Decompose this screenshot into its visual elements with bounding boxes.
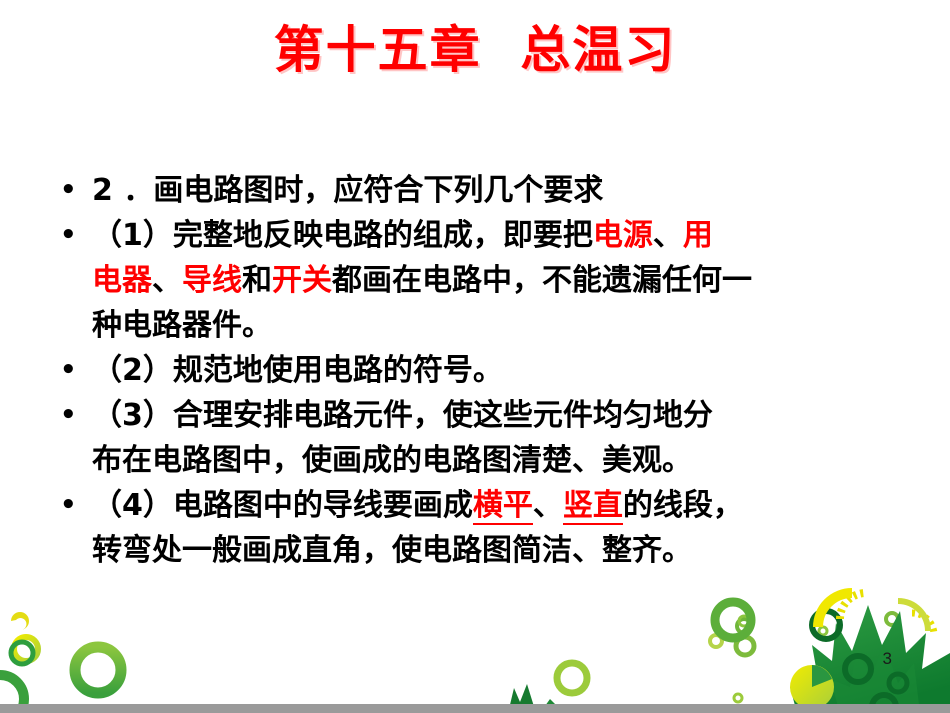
bullet-item: •（1）完整地反映电路的组成，即要把电源、用电器、导线和开关都画在电路中，不能遗… [52, 213, 912, 348]
text-run: （4）电路图中的导线要画成 [92, 488, 473, 523]
bullet-marker: • [60, 213, 77, 258]
leaf-hole-a [845, 656, 871, 682]
dotted-arc-b [818, 593, 852, 627]
text-run: 2 ．画电路图时，应符合下列几个要求 [92, 173, 603, 208]
bullet-item: •2 ．画电路图时，应符合下列几个要求 [52, 168, 912, 213]
bullet-item: •（4）电路图中的导线要画成横平、竖直的线段，转弯处一般画成直角，使电路图简洁、… [52, 483, 912, 573]
highlight-run: 用 [683, 218, 713, 253]
crescent-shape [11, 612, 29, 630]
text-run: （1）完整地反映电路的组成，即要把 [92, 218, 593, 253]
dotted-arc-d [898, 601, 928, 631]
highlight-run: 竖直 [563, 488, 623, 525]
decoration-svg [0, 583, 950, 713]
bullet-marker: • [60, 393, 77, 438]
bullet-item: •（2）规范地使用电路的符号。 [52, 348, 912, 393]
bullet-line: （3）合理安排电路元件，使这些元件均匀地分 [92, 393, 912, 438]
page-number: 3 [883, 649, 892, 669]
text-run: （3）合理安排电路元件，使这些元件均匀地分 [92, 398, 713, 433]
text-run: 的线段， [623, 488, 743, 523]
text-run: 、 [152, 263, 182, 298]
leaf-hole-b [889, 674, 907, 692]
bullet-line: 布在电路图中，使画成的电路图清楚、美观。 [92, 438, 912, 483]
text-run: 转弯处一般画成直角，使电路图简洁、整齐。 [92, 533, 692, 568]
yellow-blob [790, 665, 834, 709]
ring-mid [557, 663, 587, 693]
highlight-run: 开关 [272, 263, 332, 298]
maple-leaf-inner [830, 643, 920, 713]
bullet-line: 种电路器件。 [92, 303, 912, 348]
bottom-decoration: 3 [0, 583, 950, 713]
text-run: 布在电路图中，使画成的电路图清楚、美观。 [92, 443, 692, 478]
leaf-hole-c [872, 695, 896, 713]
highlight-run: 导线 [182, 263, 242, 298]
bullet-marker: • [60, 483, 77, 528]
highlight-run: 横平 [473, 488, 533, 525]
ring-tiny-a [710, 635, 722, 647]
text-run: 种电路器件。 [92, 308, 272, 343]
bullet-marker: • [60, 348, 77, 393]
bullet-line: （4）电路图中的导线要画成横平、竖直的线段， [92, 483, 912, 528]
bullet-line: 电器、导线和开关都画在电路中，不能遗漏任何一 [92, 258, 912, 303]
bullet-line: 2 ．画电路图时，应符合下列几个要求 [92, 168, 912, 213]
bottom-bar [0, 704, 950, 713]
ring-small-a [14, 637, 38, 661]
ring-tiny-b [736, 637, 754, 655]
ring-tiny-d [739, 616, 749, 626]
leaf-spike-small [508, 684, 536, 713]
maple-leaf-shape [790, 605, 950, 713]
slide-canvas: 第十五章 总温习 •2 ．画电路图时，应符合下列几个要求•（1）完整地反映电路的… [0, 0, 950, 713]
highlight-run: 电器 [92, 263, 152, 298]
ring-tiny-e [734, 694, 742, 702]
text-run: 都画在电路中，不能遗漏任何一 [332, 263, 752, 298]
ring-tiny-c [737, 619, 751, 633]
bullet-line: 转弯处一般画成直角，使电路图简洁、整齐。 [92, 528, 912, 573]
bullet-line: （1）完整地反映电路的组成，即要把电源、用 [92, 213, 912, 258]
bullet-item: •（3）合理安排电路元件，使这些元件均匀地分布在电路图中，使画成的电路图清楚、美… [52, 393, 912, 483]
ring-tiny-g [886, 613, 898, 625]
text-run: 、 [653, 218, 683, 253]
bullet-marker: • [60, 168, 77, 213]
dotted-arc-a [840, 593, 866, 619]
ring-small-b [11, 642, 33, 664]
leaf-spike-tiny [540, 699, 564, 713]
ring-tiny-f [819, 627, 827, 635]
ring-medium-left [75, 647, 121, 693]
text-run: （2）规范地使用电路的符号。 [92, 353, 503, 388]
leaf-hole-d [812, 611, 840, 639]
yellow-blob-notch [812, 665, 832, 687]
highlight-run: 电源 [593, 218, 653, 253]
page-title: 第十五章 总温习 [0, 22, 950, 80]
ring-upper-mid [715, 602, 751, 638]
bullet-list: •2 ．画电路图时，应符合下列几个要求•（1）完整地反映电路的组成，即要把电源、… [52, 168, 912, 573]
text-run: 和 [242, 263, 272, 298]
ring-edge-left [0, 675, 24, 713]
bullet-line: （2）规范地使用电路的符号。 [92, 348, 912, 393]
text-run: 、 [533, 488, 563, 523]
dotted-arc-c [912, 613, 934, 635]
